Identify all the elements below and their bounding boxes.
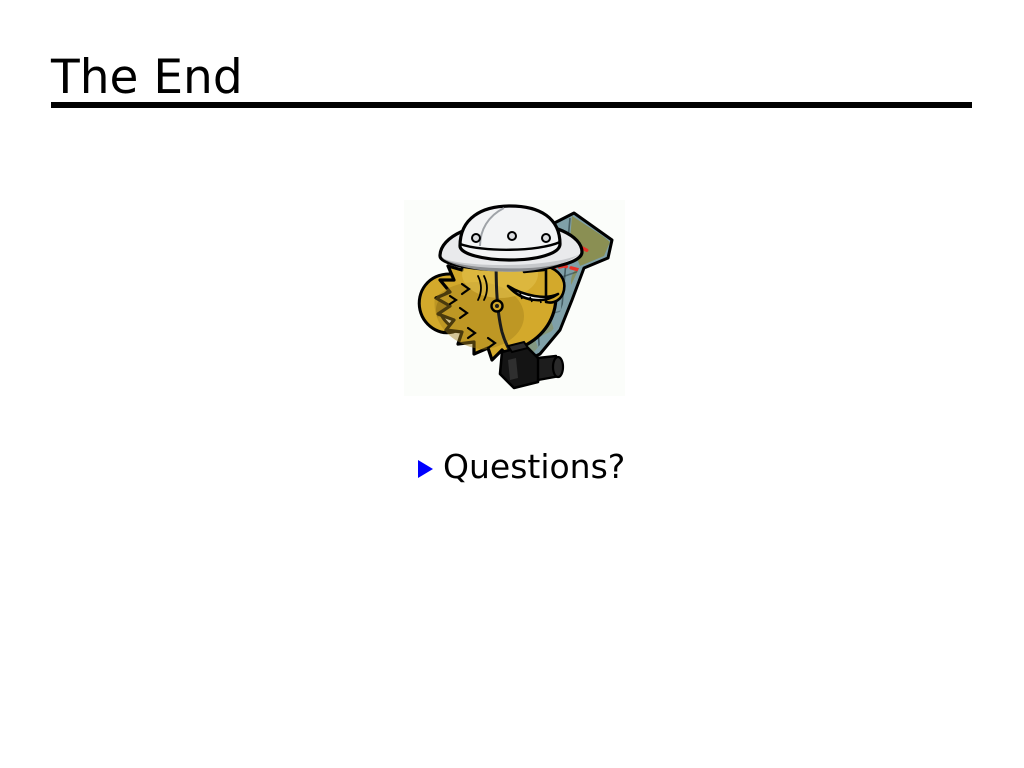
slide: The End bbox=[0, 0, 1024, 768]
title-divider bbox=[51, 102, 972, 108]
puffy-mascot-svg bbox=[404, 200, 625, 396]
puffy-mascot-image bbox=[404, 200, 625, 396]
bullet-text: Questions? bbox=[443, 447, 625, 487]
list-item: Questions? bbox=[418, 447, 625, 487]
triangle-right-icon bbox=[418, 460, 433, 478]
page-title: The End bbox=[51, 50, 972, 106]
